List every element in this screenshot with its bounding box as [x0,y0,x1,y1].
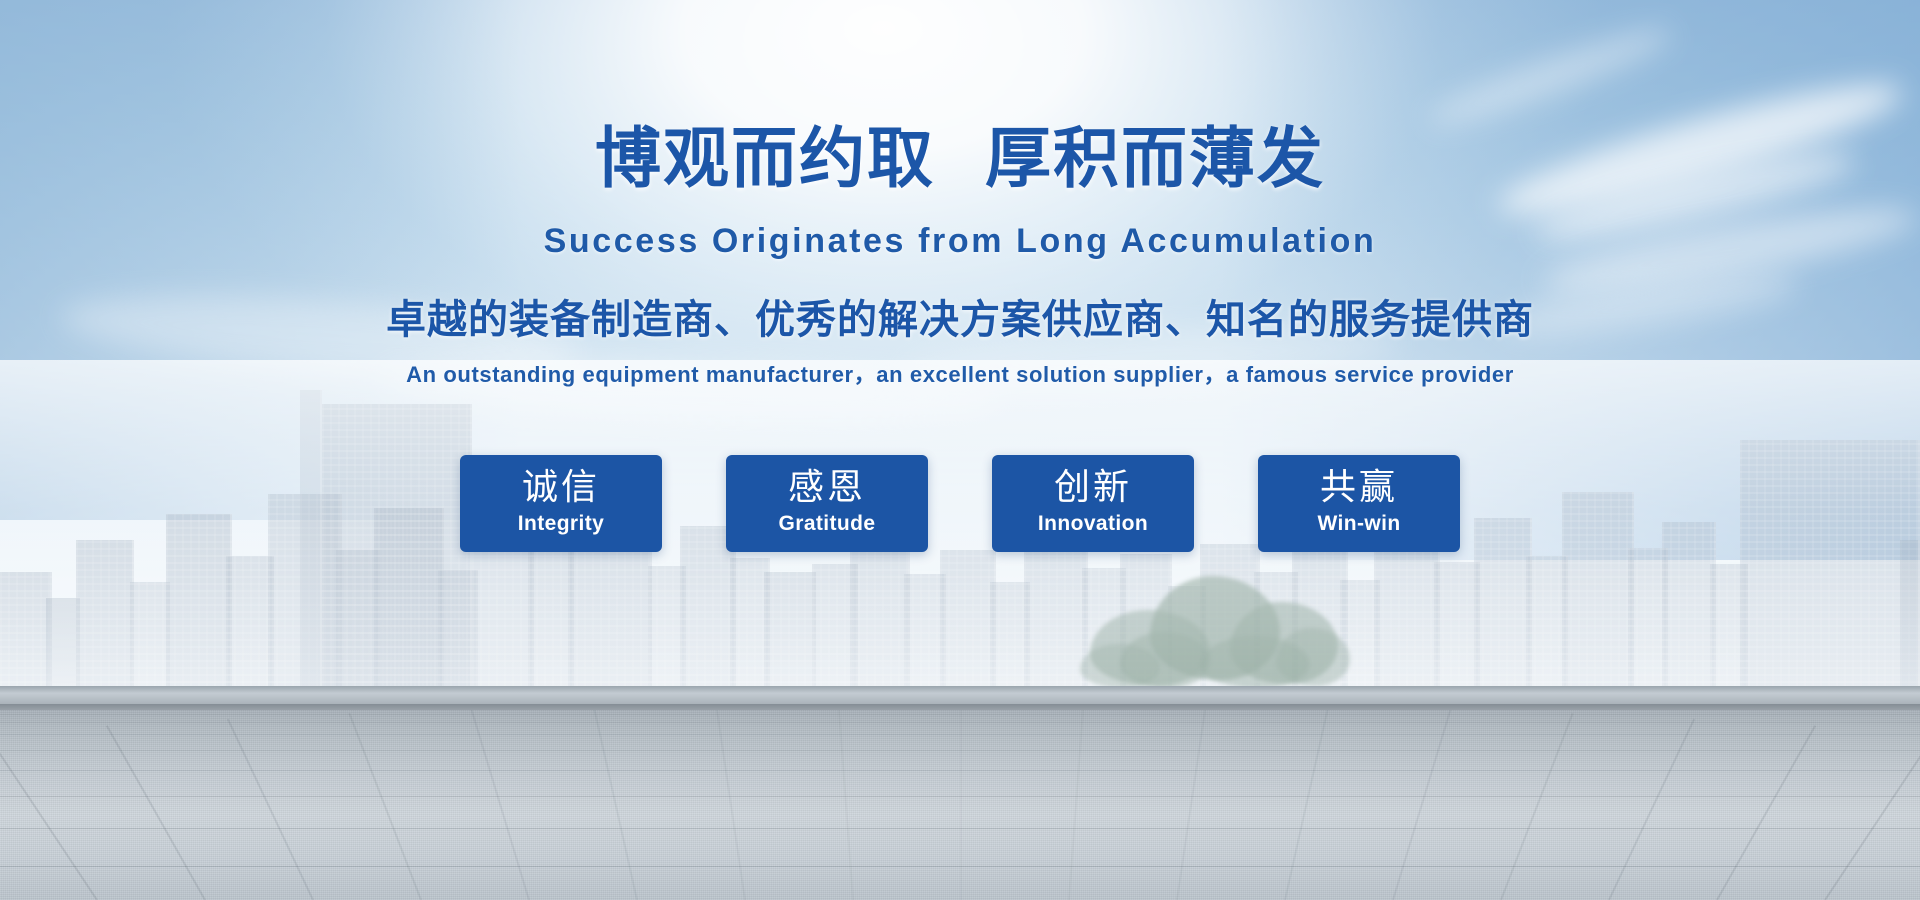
value-card-gratitude[interactable]: 感恩Gratitude [726,455,928,552]
value-card-integrity[interactable]: 诚信Integrity [460,455,662,552]
headline-chinese: 博观而约取 厚积而薄发 [0,126,1920,192]
value-card-win-win[interactable]: 共赢Win-win [1258,455,1460,552]
value-label-chinese: 诚信 [486,467,636,509]
value-label-english: Gratitude [752,511,902,537]
value-label-english: Win-win [1284,511,1434,537]
subheadline-english: An outstanding equipment manufacturer，an… [0,364,1920,386]
value-label-english: Integrity [486,511,636,537]
subheadline-chinese: 卓越的装备制造商、优秀的解决方案供应商、知名的服务提供商 [0,300,1920,340]
value-label-chinese: 感恩 [752,467,902,509]
headline-english: Success Originates from Long Accumulatio… [0,224,1920,258]
value-label-chinese: 共赢 [1284,467,1434,509]
banner-content: 博观而约取 厚积而薄发 Success Originates from Long… [0,0,1920,900]
value-label-chinese: 创新 [1018,467,1168,509]
value-card-innovation[interactable]: 创新Innovation [992,455,1194,552]
hero-banner: 博观而约取 厚积而薄发 Success Originates from Long… [0,0,1920,900]
core-values-list: 诚信Integrity感恩Gratitude创新Innovation共赢Win-… [0,455,1920,552]
value-label-english: Innovation [1018,511,1168,537]
